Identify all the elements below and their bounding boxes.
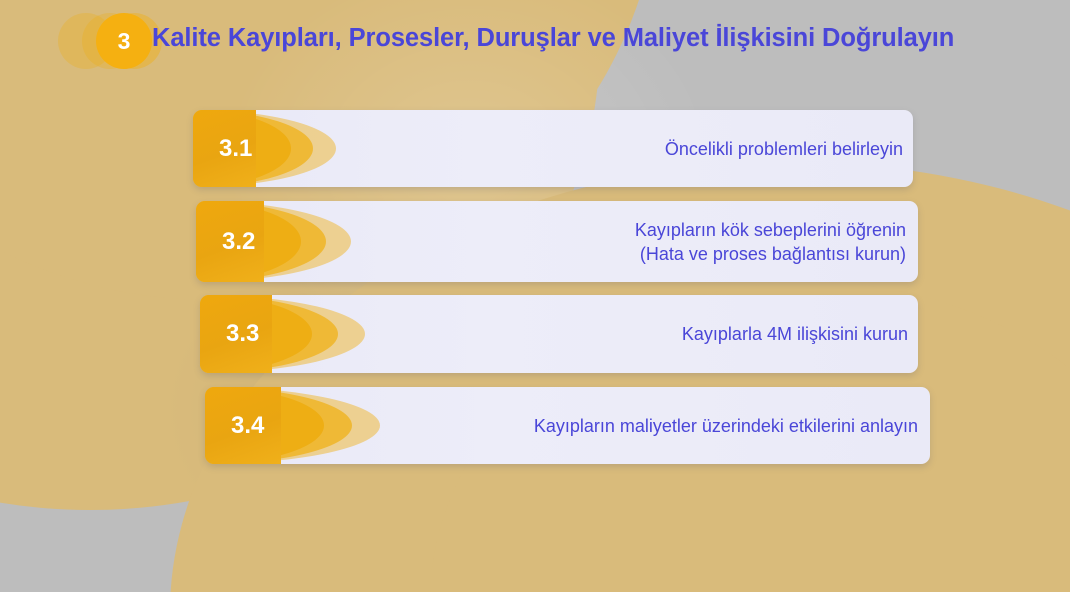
step-number: 3.4	[205, 412, 264, 440]
step-description: Kayıpların maliyetler üzerindeki etkiler…	[534, 414, 918, 438]
step-number: 3.3	[200, 320, 259, 348]
step-description: Kayıplarla 4M ilişkisini kurun	[682, 322, 908, 346]
steps-list: 3.1 Öncelikli problemleri belirleyin 3.2…	[0, 0, 1070, 592]
step-description: Kayıpların kök sebeplerini öğrenin (Hata…	[635, 218, 906, 267]
step-number-block: 3.1	[193, 110, 336, 187]
slide-canvas: 3 Kalite Kayıpları, Prosesler, Duruşlar …	[0, 0, 1070, 592]
step-number-block: 3.4	[205, 387, 380, 464]
list-item[interactable]: 3.2 Kayıpların kök sebeplerini öğrenin (…	[196, 201, 918, 282]
step-number-block: 3.3	[200, 295, 365, 373]
list-item[interactable]: 3.3 Kayıplarla 4M ilişkisini kurun	[200, 295, 918, 373]
step-number: 3.2	[196, 228, 255, 256]
step-number-block: 3.2	[196, 201, 351, 282]
list-item[interactable]: 3.1 Öncelikli problemleri belirleyin	[193, 110, 913, 187]
list-item[interactable]: 3.4 Kayıpların maliyetler üzerindeki etk…	[205, 387, 930, 464]
step-description: Öncelikli problemleri belirleyin	[665, 137, 903, 161]
step-number: 3.1	[193, 135, 252, 163]
